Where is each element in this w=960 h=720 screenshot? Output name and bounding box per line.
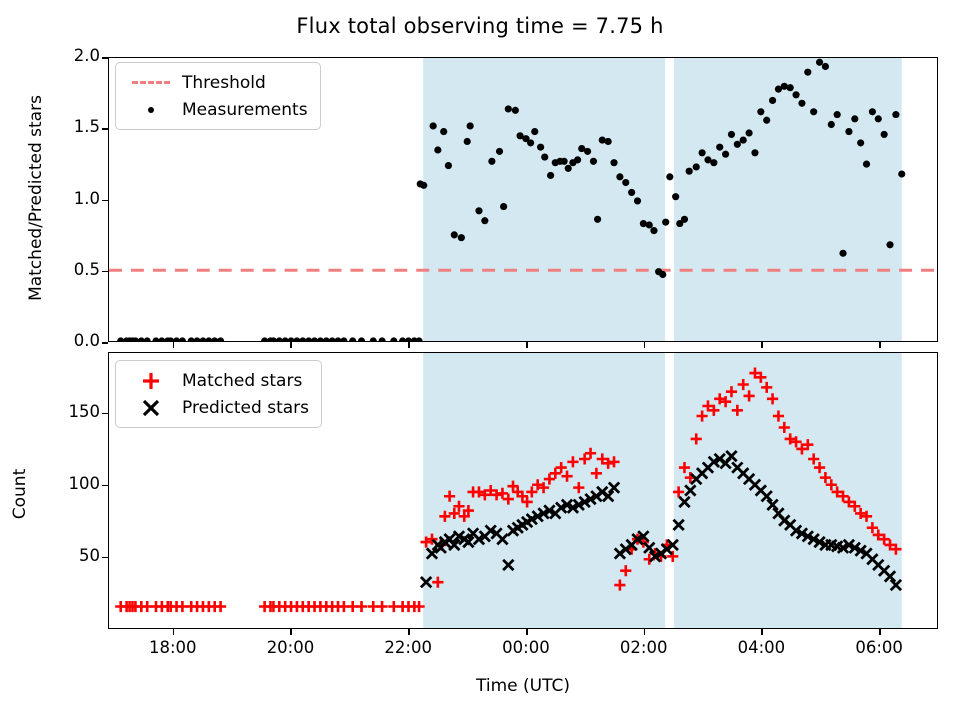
dot-marker-icon: [124, 107, 178, 113]
legend-label-matched-stars: Matched stars: [178, 371, 302, 391]
series-matched-stars: [115, 601, 424, 612]
top-y-tick-mark-2.0: [102, 57, 108, 59]
top-panel-legend: Threshold Measurements: [115, 62, 321, 130]
x-tick-label-0200: 02:00: [599, 638, 689, 657]
legend-item-measurements: Measurements: [124, 96, 308, 123]
dashed-line-icon: [124, 81, 178, 84]
x-tick-mark-1800: [173, 629, 175, 635]
series-measurements: [117, 337, 422, 341]
top-y-tick-mark-0.0: [102, 342, 108, 344]
top-y-tick-label-0.0: 0.0: [40, 331, 100, 350]
x-tick-label-0600: 06:00: [834, 638, 924, 657]
cross-marker-icon: [124, 397, 178, 419]
observing-span-shading: [674, 353, 902, 628]
observing-span-shading: [674, 58, 902, 341]
x-tick-label-0400: 04:00: [716, 638, 806, 657]
x-tick-mark-0200: [644, 629, 646, 635]
x-tick-mark-0000: [526, 629, 528, 635]
bottom-y-tick-mark-50: [102, 557, 108, 559]
x-tick-mark-2000: [290, 629, 292, 635]
legend-label-measurements: Measurements: [178, 100, 308, 120]
x-tick-mark-top-0600: [879, 342, 881, 348]
plus-marker-icon: [124, 370, 178, 392]
x-tick-mark-2200: [408, 629, 410, 635]
top-y-tick-mark-1.5: [102, 128, 108, 130]
legend-item-matched-stars: Matched stars: [124, 367, 309, 394]
bottom-y-tick-label-100: 100: [40, 474, 100, 493]
x-tick-mark-top-2200: [408, 342, 410, 348]
legend-label-threshold: Threshold: [178, 73, 266, 93]
bottom-y-tick-label-150: 150: [40, 402, 100, 421]
x-tick-label-0000: 00:00: [481, 638, 571, 657]
legend-item-threshold: Threshold: [124, 69, 308, 96]
top-y-tick-mark-1.0: [102, 200, 108, 202]
x-tick-mark-top-0000: [526, 342, 528, 348]
bottom-y-tick-label-50: 50: [40, 546, 100, 565]
x-tick-mark-0400: [761, 629, 763, 635]
observing-span-shading: [423, 58, 665, 341]
x-tick-mark-0600: [879, 629, 881, 635]
x-tick-mark-top-0200: [644, 342, 646, 348]
top-y-tick-mark-0.5: [102, 271, 108, 273]
x-tick-label-2200: 22:00: [363, 638, 453, 657]
page-title: Flux total observing time = 7.75 h: [0, 14, 960, 38]
bottom-y-tick-mark-150: [102, 413, 108, 415]
x-tick-mark-top-2000: [290, 342, 292, 348]
top-y-tick-label-1.5: 1.5: [40, 117, 100, 136]
legend-item-predicted-stars: Predicted stars: [124, 394, 309, 421]
bottom-panel-legend: Matched stars Predicted stars: [115, 360, 322, 428]
x-tick-mark-top-0400: [761, 342, 763, 348]
x-tick-label-1800: 18:00: [128, 638, 218, 657]
x-tick-label-2000: 20:00: [245, 638, 335, 657]
x-axis-label: Time (UTC): [108, 676, 938, 696]
top-y-tick-label-0.5: 0.5: [40, 260, 100, 279]
top-y-tick-label-1.0: 1.0: [40, 189, 100, 208]
top-y-tick-label-2.0: 2.0: [40, 46, 100, 65]
bottom-y-tick-mark-100: [102, 485, 108, 487]
legend-label-predicted-stars: Predicted stars: [178, 398, 309, 418]
x-tick-mark-top-1800: [173, 342, 175, 348]
bottom-panel-y-axis-label: Count: [10, 434, 30, 554]
